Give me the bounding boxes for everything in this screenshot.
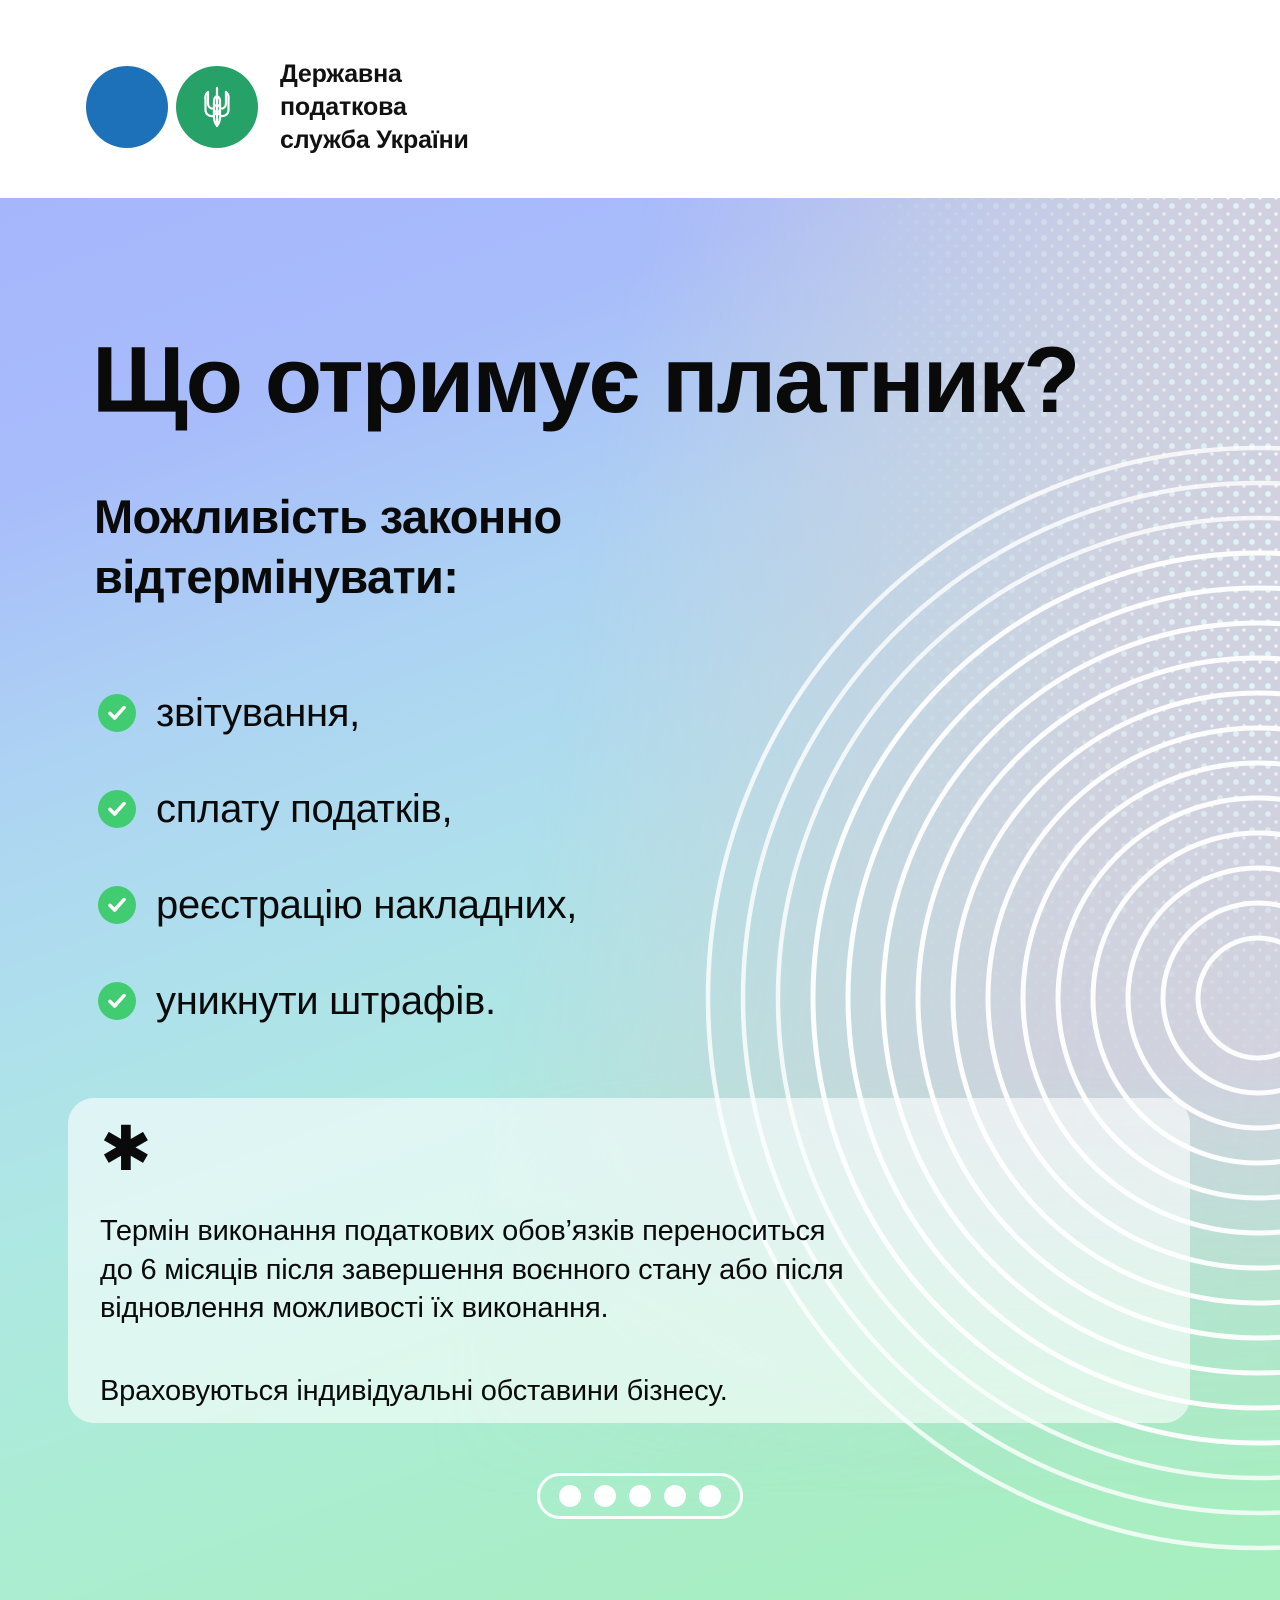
carousel-page-indicator[interactable] (537, 1473, 743, 1519)
org-name-label: Державна податкова служба України (280, 58, 469, 156)
list-item-label: уникнути штрафів. (156, 981, 496, 1021)
list-item: сплату податків, (98, 789, 998, 829)
benefits-list: звітування, сплату податків, реєстрацію … (98, 693, 998, 1077)
page-dot-3[interactable] (629, 1485, 651, 1507)
page-dot-2[interactable] (594, 1485, 616, 1507)
list-item: уникнути штрафів. (98, 981, 998, 1021)
list-item: звітування, (98, 693, 998, 733)
ukraine-trident-icon (197, 83, 237, 131)
list-item: реєстрацію накладних, (98, 885, 998, 925)
check-circle-icon (98, 886, 136, 924)
poster-canvas: Що отримує платник? Можливість законно в… (0, 0, 1280, 1600)
note-paragraph-secondary: Враховуються індивідуальні обставини біз… (100, 1372, 1154, 1411)
list-item-label: реєстрацію накладних, (156, 885, 577, 925)
note-paragraph-primary: Термін виконання податкових обов’язків п… (100, 1212, 1154, 1328)
list-item-label: звітування, (156, 693, 360, 733)
page-dot-5[interactable] (699, 1485, 721, 1507)
page-dot-4[interactable] (664, 1485, 686, 1507)
blue-circle-icon (86, 66, 168, 148)
green-circle-icon (176, 66, 258, 148)
note-card: ✱ Термін виконання податкових обов’язків… (68, 1098, 1190, 1423)
check-circle-icon (98, 790, 136, 828)
check-circle-icon (98, 694, 136, 732)
page-title: Що отримує платник? (92, 333, 1078, 427)
check-circle-icon (98, 982, 136, 1020)
page-dot-1[interactable] (559, 1485, 581, 1507)
list-item-label: сплату податків, (156, 789, 452, 829)
page-subtitle: Можливість законно відтермінувати: (94, 487, 562, 607)
brand-logo: Державна податкова служба України (86, 58, 469, 156)
header-band: Державна податкова служба України (0, 0, 1280, 198)
gradient-background: Що отримує платник? Можливість законно в… (0, 198, 1280, 1600)
asterisk-icon: ✱ (100, 1128, 1154, 1184)
